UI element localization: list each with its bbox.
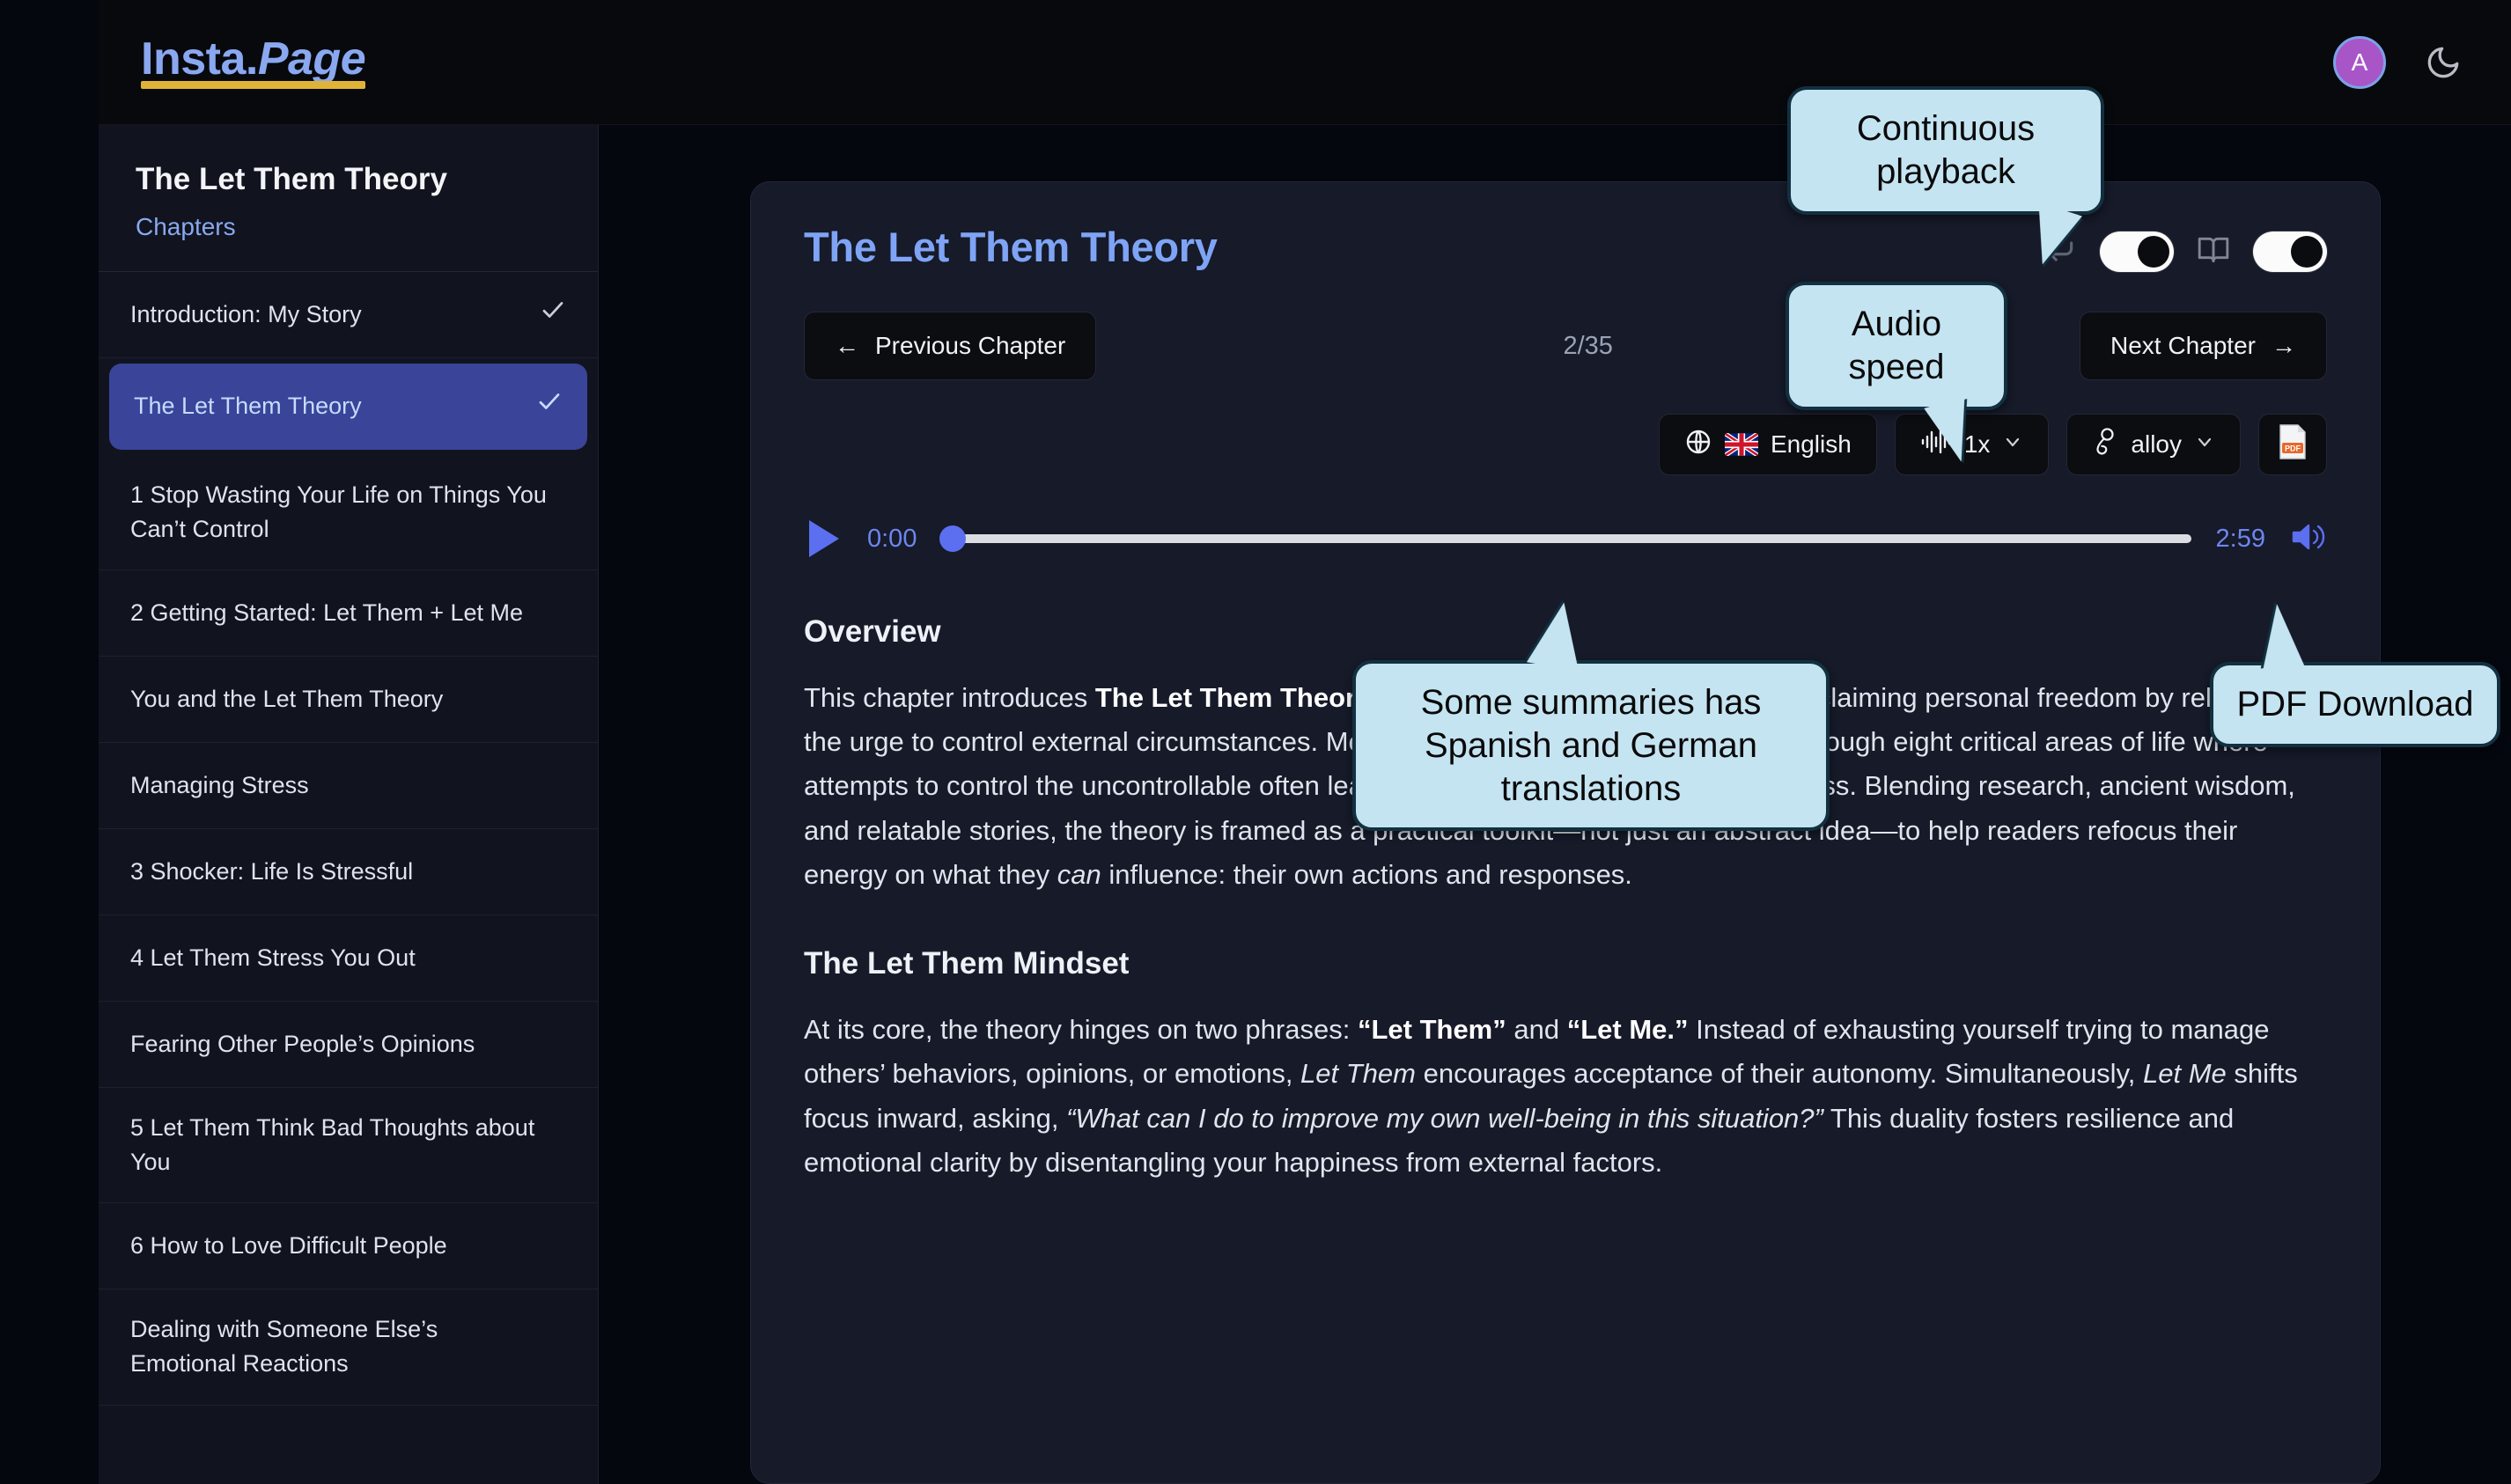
next-chapter-button[interactable]: Next Chapter → <box>2080 312 2327 380</box>
sidebar-item[interactable]: 3 Shocker: Life Is Stressful <box>99 829 598 915</box>
next-chapter-label: Next Chapter <box>2110 332 2256 360</box>
sidebar-item-label: The Let Them Theory <box>134 389 381 423</box>
callout-translations: Some summaries has Spanish and German tr… <box>1352 660 1830 831</box>
callout-audio-speed: Audio speed <box>1786 282 2007 410</box>
check-icon <box>540 297 566 333</box>
voice-label: alloy <box>2131 430 2182 459</box>
volume-icon[interactable] <box>2290 520 2327 558</box>
chevron-down-icon <box>2002 430 2023 459</box>
sidebar-item[interactable]: 2 Getting Started: Let Them + Let Me <box>99 570 598 657</box>
sidebar-item-label: Managing Stress <box>130 768 328 803</box>
sidebar-book-title: The Let Them Theory <box>136 160 561 199</box>
sidebar-item[interactable]: Introduction: My Story <box>99 272 598 358</box>
language-selector[interactable]: English <box>1659 414 1877 475</box>
sidebar-item[interactable]: 4 Let Them Stress You Out <box>99 915 598 1002</box>
previous-chapter-button[interactable]: ← Previous Chapter <box>804 312 1096 380</box>
audio-player: 0:00 2:59 <box>804 512 2327 565</box>
sidebar: The Let Them Theory Chapters Introductio… <box>99 125 599 1484</box>
callout-text: Some summaries has Spanish and German tr… <box>1421 683 1762 808</box>
callout-continuous-playback: Continuous playback <box>1787 86 2104 215</box>
voice-selector[interactable]: alloy <box>2066 414 2241 475</box>
continuous-playback-toggle[interactable] <box>2100 231 2174 272</box>
chapter-card: The Let Them Theory <box>750 181 2381 1484</box>
avatar-initial: A <box>2352 48 2368 77</box>
sidebar-item-label: 5 Let Them Think Bad Thoughts about You <box>130 1111 566 1179</box>
toggle-knob <box>2138 236 2169 268</box>
playback-toggles <box>2043 231 2327 272</box>
sidebar-item-label: Fearing Other People’s Opinions <box>130 1027 494 1062</box>
callout-tail <box>2256 602 2304 672</box>
app-root: Insta.Page A The Let Them Theory Chapter… <box>0 0 2511 1484</box>
callout-pdf-download: PDF Download <box>2210 662 2500 747</box>
sidebar-item[interactable]: The Let Them Theory <box>109 364 587 450</box>
sidebar-section-label: Chapters <box>136 213 561 241</box>
sidebar-item[interactable]: 6 How to Love Difficult People <box>99 1203 598 1289</box>
seek-track <box>941 534 2191 543</box>
uk-flag-icon <box>1725 433 1758 456</box>
avatar[interactable]: A <box>2333 36 2386 89</box>
check-icon <box>536 388 563 424</box>
microphone-icon <box>2092 427 2118 463</box>
brand-underline <box>141 81 365 89</box>
language-label: English <box>1771 430 1852 459</box>
callout-tail <box>1527 598 1590 671</box>
book-icon <box>2197 233 2230 271</box>
chevron-down-icon <box>2194 430 2215 459</box>
pdf-download-button[interactable]: PDF <box>2258 414 2327 475</box>
sidebar-item-label: 1 Stop Wasting Your Life on Things You C… <box>130 478 566 547</box>
sidebar-item-label: 3 Shocker: Life Is Stressful <box>130 855 432 889</box>
brand-logo[interactable]: Insta.Page <box>141 36 365 89</box>
top-bar-actions: A <box>2333 36 2462 89</box>
play-button[interactable] <box>804 518 843 560</box>
svg-text:PDF: PDF <box>2285 444 2301 452</box>
brand-part-two: Page <box>258 33 365 84</box>
sidebar-item[interactable]: 5 Let Them Think Bad Thoughts about You <box>99 1088 598 1203</box>
callout-text: PDF Download <box>2236 685 2473 724</box>
total-time: 2:59 <box>2216 525 2265 554</box>
seek-thumb[interactable] <box>939 525 966 552</box>
current-time: 0:00 <box>867 525 917 554</box>
sidebar-item[interactable]: Managing Stress <box>99 743 598 829</box>
sidebar-item[interactable]: Dealing with Someone Else’s Emotional Re… <box>99 1289 598 1405</box>
sidebar-item-label: Dealing with Someone Else’s Emotional Re… <box>130 1312 566 1381</box>
top-bar: Insta.Page A <box>99 0 2511 125</box>
callout-text: Continuous playback <box>1857 109 2035 191</box>
chapter-list: Introduction: My StoryThe Let Them Theor… <box>99 272 598 1406</box>
sidebar-item-label: 4 Let Them Stress You Out <box>130 941 435 975</box>
sidebar-item-label: 2 Getting Started: Let Them + Let Me <box>130 596 542 630</box>
arrow-right-icon: → <box>2272 332 2296 360</box>
arrow-left-icon: ← <box>835 332 859 360</box>
brand-part-one: Insta. <box>141 33 258 84</box>
sidebar-item[interactable]: You and the Let Them Theory <box>99 657 598 743</box>
previous-chapter-label: Previous Chapter <box>875 332 1065 360</box>
pdf-icon: PDF <box>2277 423 2308 467</box>
sidebar-item[interactable]: 1 Stop Wasting Your Life on Things You C… <box>99 455 598 570</box>
sidebar-item-label: 6 How to Love Difficult People <box>130 1229 467 1263</box>
sidebar-header: The Let Them Theory Chapters <box>99 125 598 272</box>
audio-controls: English 1x <box>804 414 2327 475</box>
globe-icon <box>1684 428 1712 462</box>
reader-mode-toggle[interactable] <box>2253 231 2327 272</box>
seek-slider[interactable] <box>941 528 2191 549</box>
moon-icon[interactable] <box>2425 44 2462 81</box>
sidebar-item[interactable]: Fearing Other People’s Opinions <box>99 1002 598 1088</box>
sidebar-item-label: You and the Let Them Theory <box>130 682 462 716</box>
section-paragraph: At its core, the theory hinges on two ph… <box>804 1008 2327 1185</box>
sidebar-item-label: Introduction: My Story <box>130 298 381 332</box>
page-counter: 2/35 <box>1563 332 1612 361</box>
chapter-nav: ← Previous Chapter 2/35 Next Chapter → <box>804 312 2327 380</box>
toggle-knob <box>2291 236 2323 268</box>
section-heading: The Let Them Mindset <box>804 946 2327 981</box>
callout-text: Audio speed <box>1849 305 1945 386</box>
